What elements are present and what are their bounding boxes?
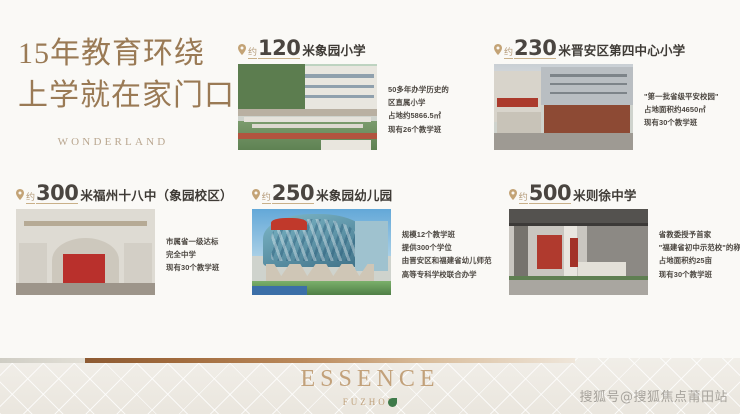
school-fact: 现有30个教学班 — [659, 268, 740, 281]
school-card-body: 规模12个教学班 提供300个学位 由晋安区和福建省幼儿师范 高等专科学校联合办… — [252, 209, 490, 295]
school-fact: 现有26个教学班 — [388, 123, 449, 136]
slide-root: 15年教育环绕 上学就在家门口 WONDERLAND 约 120 米象园小学 — [0, 0, 740, 414]
school-fact: 占地面积约25亩 — [659, 254, 740, 267]
school-name: 米象园小学 — [302, 40, 366, 59]
school-fact: 占地约5866.5㎡ — [388, 109, 449, 122]
school-fact: 高等专科学校联合办学 — [402, 268, 492, 281]
school-facts: 规模12个教学班 提供300个学位 由晋安区和福建省幼儿师范 高等专科学校联合办… — [391, 209, 492, 295]
school-fact: 规模12个教学班 — [402, 228, 492, 241]
hero-block: 15年教育环绕 上学就在家门口 WONDERLAND — [18, 34, 230, 158]
school-card-header: 约 120 米象园小学 — [238, 38, 474, 60]
school-name: 米晋安区第四中心小学 — [558, 40, 685, 59]
school-photo — [238, 64, 377, 150]
school-fact: 完全中学 — [166, 248, 219, 261]
school-card-grid-row-2: 约 300 米福州十八中（象园校区） — [16, 183, 730, 295]
approx-label: 约 — [262, 190, 271, 204]
school-fact: "福建省初中示范校"的称号 — [659, 241, 740, 254]
school-card-body: 省教委授予首家 "福建省初中示范校"的称号 占地面积约25亩 现有30个教学班 — [509, 209, 740, 295]
distance-value: 230 — [514, 38, 556, 59]
distance-value: 300 — [36, 183, 78, 204]
distance-value: 500 — [529, 183, 571, 204]
location-pin-icon — [252, 189, 260, 200]
school-card[interactable]: 约 300 米福州十八中（象园校区） — [16, 183, 233, 295]
hero-headline-line-2: 上学就在家门口 — [18, 76, 230, 116]
school-photo — [252, 209, 391, 295]
school-card-header: 约 230 米晋安区第四中心小学 — [494, 38, 730, 60]
school-fact: 由晋安区和福建省幼儿师范 — [402, 254, 492, 267]
school-card-header: 约 500 米则徐中学 — [509, 183, 740, 205]
school-card-grid-row-1: 约 120 米象园小学 — [238, 38, 730, 150]
hero-subtitle: WONDERLAND — [18, 136, 208, 148]
school-photo — [509, 209, 648, 295]
school-fact: 占地面积约4650㎡ — [644, 103, 719, 116]
school-card-body: 市属省一级达标 完全中学 现有30个教学班 — [16, 209, 233, 295]
school-card-header: 约 250 米象园幼儿园 — [252, 183, 490, 205]
school-facts: 市属省一级达标 完全中学 现有30个教学班 — [155, 209, 219, 295]
school-name: 米福州十八中（象园校区） — [80, 185, 232, 204]
school-fact: 省教委授予首家 — [659, 228, 740, 241]
hero-headline-line-1: 15年教育环绕 — [18, 34, 230, 74]
school-fact: 提供300个学位 — [402, 241, 492, 254]
school-fact: 现有30个教学班 — [644, 116, 719, 129]
school-card-header: 约 300 米福州十八中（象园校区） — [16, 183, 233, 205]
school-photo — [16, 209, 155, 295]
school-photo — [494, 64, 633, 150]
school-fact: 市属省一级达标 — [166, 235, 219, 248]
footer-accent-bar — [85, 358, 575, 363]
school-card[interactable]: 约 250 米象园幼儿园 — [252, 183, 490, 295]
school-fact: 50多年办学历史的 — [388, 83, 449, 96]
approx-label: 约 — [504, 45, 513, 59]
distance-value: 120 — [258, 38, 300, 59]
school-fact: 现有30个教学班 — [166, 261, 219, 274]
location-pin-icon — [494, 44, 502, 55]
school-name: 米则徐中学 — [573, 185, 637, 204]
school-facts: 50多年办学历史的 区直属小学 占地约5866.5㎡ 现有26个教学班 — [377, 64, 449, 150]
approx-label: 约 — [519, 190, 528, 204]
school-facts: 省教委授予首家 "福建省初中示范校"的称号 占地面积约25亩 现有30个教学班 — [648, 209, 740, 295]
footer-bar: ESSENCE FUZHOU 搜狐号@搜狐焦点莆田站 — [0, 358, 740, 414]
school-card[interactable]: 约 500 米则徐中学 — [509, 183, 740, 295]
school-card[interactable]: 约 230 米晋安区第四中心小学 — [494, 38, 730, 150]
distance-value: 250 — [272, 183, 314, 204]
location-pin-icon — [238, 44, 246, 55]
approx-label: 约 — [26, 190, 35, 204]
school-card[interactable]: 约 120 米象园小学 — [238, 38, 474, 150]
footer-accent-bar-left — [0, 358, 86, 363]
location-pin-icon — [16, 189, 24, 200]
school-card-body: 50多年办学历史的 区直属小学 占地约5866.5㎡ 现有26个教学班 — [238, 64, 474, 150]
school-fact: "第一批省级平安校园" — [644, 90, 719, 103]
school-fact: 区直属小学 — [388, 96, 449, 109]
location-pin-icon — [509, 189, 517, 200]
approx-label: 约 — [248, 45, 257, 59]
school-card-body: "第一批省级平安校园" 占地面积约4650㎡ 现有30个教学班 — [494, 64, 730, 150]
watermark-text: 搜狐号@搜狐焦点莆田站 — [579, 386, 728, 405]
school-name: 米象园幼儿园 — [316, 185, 392, 204]
school-facts: "第一批省级平安校园" 占地面积约4650㎡ 现有30个教学班 — [633, 64, 719, 150]
